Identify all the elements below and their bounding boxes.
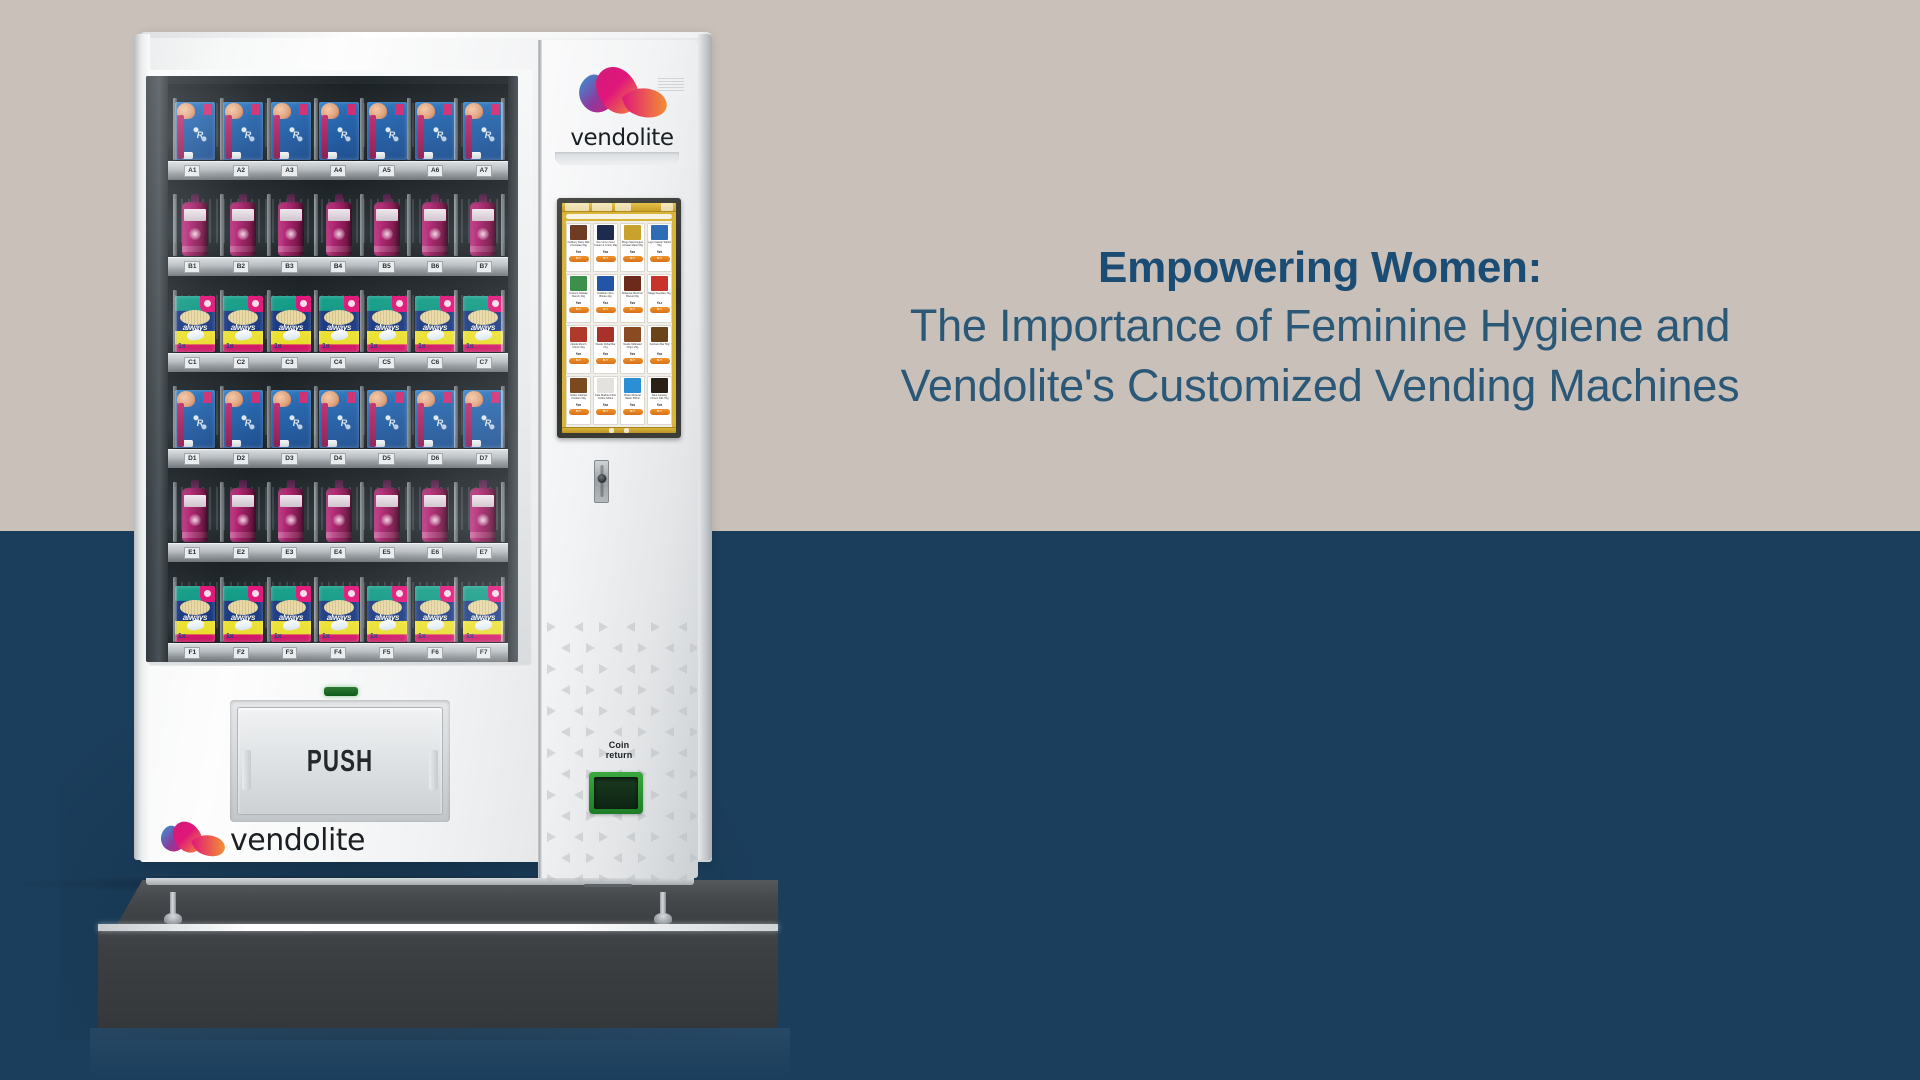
shelf-lip: F1F2F3F4F5F6F7 xyxy=(168,643,508,662)
screen-product-card[interactable]: Dark Fantasy Choco Fills 75g₹45BUY xyxy=(647,376,672,425)
product-purple-bottle xyxy=(319,194,359,256)
product-price: ₹40 xyxy=(657,352,662,357)
flap-hinge-left xyxy=(242,750,251,790)
product-always-box: always1x xyxy=(175,296,215,352)
product-name: Dark Fantasy Choco Fills 75g xyxy=(648,394,671,403)
product-always-box: always1x xyxy=(415,296,455,352)
product-price: ₹35 xyxy=(576,403,581,408)
slot-label: E6 xyxy=(427,547,443,559)
slot-label: C1 xyxy=(184,357,200,369)
shelf-lip: E1E2E3E4E5E6E7 xyxy=(168,543,508,562)
product-buy-button[interactable]: BUY xyxy=(596,307,616,313)
slot-label: C7 xyxy=(476,357,492,369)
product-name: Cadbury Dairy Milk Chocolate 50g xyxy=(567,241,590,250)
product-blue-hygiene-box: R xyxy=(223,102,263,160)
product-name: Nestle Milkmaid Chips 25g xyxy=(621,343,644,352)
product-price: ₹20 xyxy=(576,301,581,306)
screen-product-card[interactable]: Too Yumm Sour Cream & Onion 38g₹30BUY xyxy=(593,223,618,272)
product-always-box: always1x xyxy=(319,586,359,642)
brand-wordmark-bottom: vendolite xyxy=(230,823,365,858)
product-buy-button[interactable]: BUY xyxy=(650,358,670,364)
screen-product-card[interactable]: Cadbury Dairy Milk Chocolate 50g₹45BUY xyxy=(566,223,591,272)
touchscreen-bezel: Cadbury Dairy Milk Chocolate 50g₹45BUYTo… xyxy=(557,198,681,438)
cabinet-bottom-vent xyxy=(584,884,632,887)
product-thumbnail xyxy=(651,378,668,393)
product-name: Maggi Noodles 70g xyxy=(648,292,671,301)
screen-product-card[interactable]: Kurkure Masala Munch 40g₹20BUY xyxy=(566,274,591,323)
headline-line-1: Empowering Women: xyxy=(760,240,1880,296)
product-name: Kurkure Masala Munch 40g xyxy=(567,292,590,301)
product-always-box: always1x xyxy=(319,296,359,352)
screen-status-chip-4 xyxy=(661,203,673,211)
product-always-box: always1x xyxy=(223,296,263,352)
product-display-area: RRRRRRRA1A2A3A4A5A6A7B1B2B3B4B5B6B7alway… xyxy=(146,76,518,662)
platform-front-face xyxy=(98,924,778,1028)
touchscreen-display[interactable]: Cadbury Dairy Milk Chocolate 50g₹45BUYTo… xyxy=(562,203,676,433)
product-thumbnail xyxy=(570,276,587,291)
screen-bottombar xyxy=(562,427,676,433)
product-price: ₹30 xyxy=(603,250,608,255)
product-buy-button[interactable]: BUY xyxy=(596,409,616,415)
slot-label: A1 xyxy=(184,165,200,177)
product-buy-button[interactable]: BUY xyxy=(650,307,670,313)
product-price: ₹20 xyxy=(576,352,581,357)
shelf-lip: A1A2A3A4A5A6A7 xyxy=(168,161,508,180)
product-buy-button[interactable]: BUY xyxy=(596,358,616,364)
product-buy-button[interactable]: BUY xyxy=(623,256,643,262)
shelf-products xyxy=(172,184,506,256)
product-price: ₹10 xyxy=(603,301,608,306)
slot-label: B1 xyxy=(184,261,200,273)
slot-label: E1 xyxy=(184,547,200,559)
product-blue-hygiene-box: R xyxy=(415,390,455,448)
product-name: Cafe Madras Filter Coffee 180ml xyxy=(594,394,617,403)
slot-label: E4 xyxy=(330,547,346,559)
product-thumbnail xyxy=(651,327,668,342)
shelf-row-e: E1E2E3E4E5E6E7 xyxy=(168,468,508,562)
product-blue-hygiene-box: R xyxy=(271,390,311,448)
window-right-rail xyxy=(508,76,518,662)
shelf-lip: B1B2B3B4B5B6B7 xyxy=(168,257,508,276)
screen-product-grid: Cadbury Dairy Milk Chocolate 50g₹45BUYTo… xyxy=(566,221,672,427)
product-name: Haldiram Aloo Bhujia 42g xyxy=(594,292,617,301)
screen-product-card[interactable]: Nestle KitKat Bar 27g₹20BUY xyxy=(593,325,618,374)
product-always-box: always1x xyxy=(367,296,407,352)
product-thumbnail xyxy=(597,225,614,240)
product-price: ₹20 xyxy=(630,301,635,306)
machine-feet xyxy=(134,892,846,926)
slot-label: D6 xyxy=(427,453,443,465)
product-purple-bottle xyxy=(463,480,503,542)
shelf-products: RRRRRRR xyxy=(172,376,506,448)
screen-product-card[interactable]: Unibic Cashew Cookies 60g₹35BUY xyxy=(566,376,591,425)
brand-logo-bottom: vendolite xyxy=(156,818,365,862)
product-always-box: always1x xyxy=(463,296,503,352)
screen-search-bar[interactable] xyxy=(566,214,672,219)
screen-product-card[interactable]: Bingo Mad Angles Achaari Masti 66g₹20BUY xyxy=(620,223,645,272)
slot-label: A5 xyxy=(378,165,394,177)
slot-label: E3 xyxy=(281,547,297,559)
slot-label: E2 xyxy=(233,547,249,559)
vending-machine: RRRRRRRA1A2A3A4A5A6A7B1B2B3B4B5B6B7alway… xyxy=(134,32,712,862)
headline-line-2: The Importance of Feminine Hygiene and xyxy=(760,296,1880,355)
coin-return-label-line2: return xyxy=(606,750,633,760)
product-thumbnail xyxy=(570,225,587,240)
shelf-products xyxy=(172,472,506,542)
product-price: ₹45 xyxy=(576,250,581,255)
headline-line-3: Vendolite's Customized Vending Machines xyxy=(760,356,1880,415)
screen-product-card[interactable]: Nestle Milkmaid Chips 25g₹25BUY xyxy=(620,325,645,374)
product-blue-hygiene-box: R xyxy=(367,390,407,448)
brand-logo-top: vendolite xyxy=(567,62,677,151)
product-purple-bottle xyxy=(367,194,407,256)
slot-label: A4 xyxy=(330,165,346,177)
shelf-products: always1xalways1xalways1xalways1xalways1x… xyxy=(172,566,506,642)
shelf-row-d: RRRRRRRD1D2D3D4D5D6D7 xyxy=(168,372,508,468)
product-purple-bottle xyxy=(415,194,455,256)
coin-return-label-line1: Coin xyxy=(609,740,629,750)
product-blue-hygiene-box: R xyxy=(223,390,263,448)
product-blue-hygiene-box: R xyxy=(319,102,359,160)
slot-label: C3 xyxy=(281,357,297,369)
slot-label: D3 xyxy=(281,453,297,465)
vendolite-logo-icon xyxy=(156,818,236,862)
screen-status-chip-2 xyxy=(592,203,612,211)
product-thumbnail xyxy=(651,225,668,240)
product-name: Lays Classic Salted 52g xyxy=(648,241,671,250)
slot-label: C2 xyxy=(233,357,249,369)
product-purple-bottle xyxy=(319,480,359,542)
product-thumbnail xyxy=(597,327,614,342)
delivery-status-led xyxy=(324,687,358,696)
slot-label: D2 xyxy=(233,453,249,465)
panel-seam xyxy=(539,40,542,878)
product-always-box: always1x xyxy=(175,586,215,642)
window-left-rail xyxy=(146,76,168,662)
product-price: ₹25 xyxy=(630,352,635,357)
shelf-products: RRRRRRR xyxy=(172,88,506,160)
product-purple-bottle xyxy=(415,480,455,542)
slot-label: F2 xyxy=(233,647,249,659)
product-buy-button[interactable]: BUY xyxy=(623,307,643,313)
speaker-grille-icon xyxy=(658,78,684,92)
product-name: Unibic Cashew Cookies 60g xyxy=(567,394,590,403)
product-buy-button[interactable]: BUY xyxy=(623,358,643,364)
product-thumbnail xyxy=(624,327,641,342)
product-price: ₹30 xyxy=(603,403,608,408)
screen-product-card[interactable]: Bisleri Mineral Water 500ml₹20BUY xyxy=(620,376,645,425)
slot-label: B4 xyxy=(330,261,346,273)
slot-label: C6 xyxy=(427,357,443,369)
slot-label: B3 xyxy=(281,261,297,273)
product-blue-hygiene-box: R xyxy=(367,102,407,160)
push-flap-door[interactable]: PUSH xyxy=(237,707,443,815)
product-thumbnail xyxy=(624,378,641,393)
slot-label: B6 xyxy=(427,261,443,273)
screen-product-card[interactable]: Maggi Noodles 70g₹14BUY xyxy=(647,274,672,323)
product-purple-bottle xyxy=(175,194,215,256)
slot-label: F7 xyxy=(476,647,492,659)
product-blue-hygiene-box: R xyxy=(319,390,359,448)
slot-label: A6 xyxy=(427,165,443,177)
shelf-row-c: always1xalways1xalways1xalways1xalways1x… xyxy=(168,276,508,372)
slot-label: D1 xyxy=(184,453,200,465)
product-thumbnail xyxy=(570,378,587,393)
control-panel: vendolite Cadbury Dairy Milk Chocolate 5… xyxy=(538,40,698,878)
product-buy-button[interactable]: BUY xyxy=(569,409,589,415)
cabinet-lock[interactable] xyxy=(594,460,609,503)
product-price: ₹20 xyxy=(630,250,635,255)
shelf-row-b: B1B2B3B4B5B6B7 xyxy=(168,180,508,276)
product-always-box: always1x xyxy=(271,586,311,642)
product-purple-bottle xyxy=(223,194,263,256)
leveling-foot-right xyxy=(654,892,672,924)
flap-hinge-right xyxy=(429,750,438,790)
slot-label: F3 xyxy=(282,647,298,659)
product-name: Bisleri Mineral Water 500ml xyxy=(621,394,644,403)
vendolite-logo-icon-top xyxy=(572,62,672,124)
cabinet-top-highlight xyxy=(140,32,706,38)
product-purple-bottle xyxy=(367,480,407,542)
product-name: Bingo Mad Angles Achaari Masti 66g xyxy=(621,241,644,250)
brand-wordmark-top: vendolite xyxy=(567,125,677,151)
shelf-row-f: always1xalways1xalways1xalways1xalways1x… xyxy=(168,562,508,662)
panel-groove xyxy=(555,152,679,165)
keyhole-icon xyxy=(597,474,606,483)
page-stage: Empowering Women: The Importance of Femi… xyxy=(0,0,1920,1080)
product-blue-hygiene-box: R xyxy=(415,102,455,160)
delivery-bay[interactable]: PUSH xyxy=(230,700,450,822)
shelf-row-a: RRRRRRRA1A2A3A4A5A6A7 xyxy=(168,84,508,180)
product-price: ₹14 xyxy=(657,301,662,306)
product-thumbnail xyxy=(597,378,614,393)
slot-label: A7 xyxy=(476,165,492,177)
product-name: Nestle Munch Choco 32g xyxy=(567,343,590,352)
leveling-foot-left xyxy=(164,892,182,924)
product-always-box: always1x xyxy=(463,586,503,642)
slot-label: F4 xyxy=(330,647,346,659)
product-thumbnail xyxy=(597,276,614,291)
screen-product-card[interactable]: Haldiram Aloo Bhujia 42g₹10BUY xyxy=(593,274,618,323)
coin-return-label: Coin return xyxy=(579,740,659,761)
slot-label: C5 xyxy=(378,357,394,369)
shelf-lip: D1D2D3D4D5D6D7 xyxy=(168,449,508,468)
product-thumbnail xyxy=(570,327,587,342)
product-blue-hygiene-box: R xyxy=(271,102,311,160)
product-buy-button[interactable]: BUY xyxy=(569,256,589,262)
product-thumbnail xyxy=(651,276,668,291)
product-buy-button[interactable]: BUY xyxy=(596,256,616,262)
product-thumbnail xyxy=(624,225,641,240)
product-thumbnail xyxy=(624,276,641,291)
slot-label: B2 xyxy=(233,261,249,273)
slot-label: F6 xyxy=(427,647,443,659)
screen-nav-dot-2[interactable] xyxy=(624,428,629,433)
push-label: PUSH xyxy=(307,743,373,779)
slot-label: A2 xyxy=(233,165,249,177)
screen-topbar xyxy=(562,203,676,212)
product-buy-button[interactable]: BUY xyxy=(650,409,670,415)
product-name: Too Yumm Sour Cream & Onion 38g xyxy=(594,241,617,250)
floor-reflection xyxy=(90,1028,790,1080)
screen-nav-dot-1[interactable] xyxy=(609,428,614,433)
product-purple-bottle xyxy=(271,480,311,542)
slot-label: B7 xyxy=(476,261,492,273)
slot-label: A3 xyxy=(281,165,297,177)
product-price: ₹20 xyxy=(657,250,662,255)
slot-label: C4 xyxy=(330,357,346,369)
product-buy-button[interactable]: BUY xyxy=(650,256,670,262)
product-name: Nestle KitKat Bar 27g xyxy=(594,343,617,352)
screen-product-card[interactable]: Cafe Madras Filter Coffee 180ml₹30BUY xyxy=(593,376,618,425)
product-always-box: always1x xyxy=(367,586,407,642)
product-buy-button[interactable]: BUY xyxy=(569,358,589,364)
screen-status-chip-1 xyxy=(565,203,589,211)
product-price: ₹45 xyxy=(657,403,662,408)
product-purple-bottle xyxy=(175,480,215,542)
product-always-box: always1x xyxy=(415,586,455,642)
product-purple-bottle xyxy=(463,194,503,256)
slot-label: E7 xyxy=(476,547,492,559)
product-name: Britannia Bourbon Biscuit 60g xyxy=(621,292,644,301)
product-purple-bottle xyxy=(223,480,263,542)
slot-label: D4 xyxy=(330,453,346,465)
product-always-box: always1x xyxy=(271,296,311,352)
product-name: Snickers Bar 50g xyxy=(648,343,671,352)
product-purple-bottle xyxy=(271,194,311,256)
product-buy-button[interactable]: BUY xyxy=(569,307,589,313)
product-blue-hygiene-box: R xyxy=(463,390,503,448)
product-blue-hygiene-box: R xyxy=(175,390,215,448)
product-always-box: always1x xyxy=(223,586,263,642)
coin-return-slot[interactable] xyxy=(589,772,643,814)
cabinet-right-edge xyxy=(698,34,712,860)
product-buy-button[interactable]: BUY xyxy=(623,409,643,415)
slot-label: E5 xyxy=(379,547,395,559)
screen-product-card[interactable]: Lays Classic Salted 52g₹20BUY xyxy=(647,223,672,272)
screen-product-card[interactable]: Snickers Bar 50g₹40BUY xyxy=(647,325,672,374)
shelf-products: always1xalways1xalways1xalways1xalways1x… xyxy=(172,280,506,352)
product-blue-hygiene-box: R xyxy=(175,102,215,160)
product-blue-hygiene-box: R xyxy=(463,102,503,160)
slot-label: D5 xyxy=(378,453,394,465)
product-price: ₹20 xyxy=(630,403,635,408)
shelf-lip: C1C2C3C4C5C6C7 xyxy=(168,353,508,372)
slot-label: B5 xyxy=(378,261,394,273)
slot-label: F1 xyxy=(184,647,200,659)
slot-label: F5 xyxy=(379,647,395,659)
screen-product-card[interactable]: Britannia Bourbon Biscuit 60g₹20BUY xyxy=(620,274,645,323)
screen-product-card[interactable]: Nestle Munch Choco 32g₹20BUY xyxy=(566,325,591,374)
product-price: ₹20 xyxy=(603,352,608,357)
hero-headline: Empowering Women: The Importance of Femi… xyxy=(760,240,1880,415)
coin-return-opening xyxy=(594,777,638,809)
slot-label: D7 xyxy=(476,453,492,465)
screen-status-chip-3 xyxy=(615,203,631,211)
